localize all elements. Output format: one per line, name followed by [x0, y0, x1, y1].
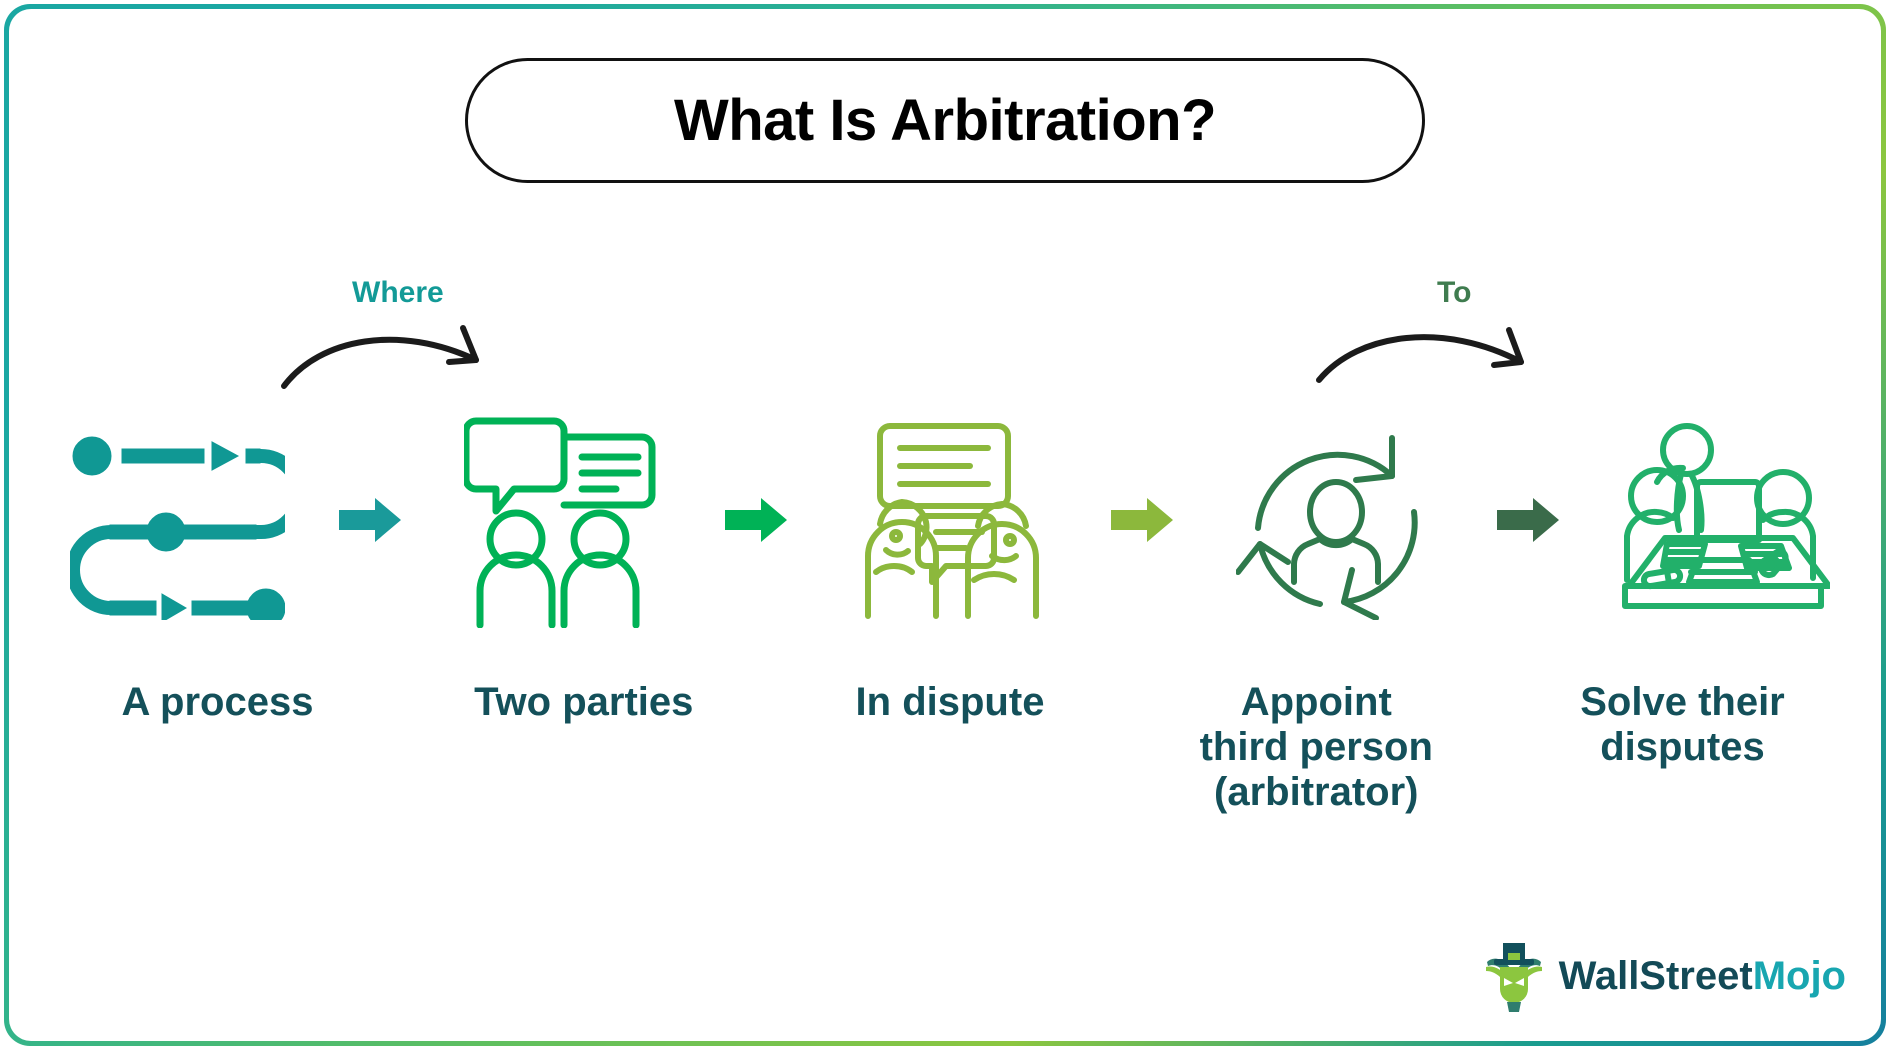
- label-slot-a-process: A process: [70, 680, 365, 725]
- arrow-right-icon: [725, 496, 789, 544]
- process-path-icon: [70, 420, 285, 620]
- two-people-speech-bubbles-icon: [464, 413, 664, 628]
- title-pill: What Is Arbitration?: [465, 58, 1425, 183]
- step-in-dispute: [843, 405, 1058, 635]
- step-solve-disputes: [1615, 405, 1830, 635]
- connector-2: [717, 496, 797, 544]
- label-slot-two-parties: Two parties: [436, 680, 731, 725]
- label-slot-in-dispute: In dispute: [803, 680, 1098, 725]
- step-label-in-dispute: In dispute: [803, 680, 1098, 725]
- step-label-appoint-arbitrator: Appoint third person (arbitrator): [1169, 680, 1464, 814]
- step-a-process: [70, 405, 285, 635]
- arrow-right-icon: [339, 496, 403, 544]
- connector-4: [1489, 496, 1569, 544]
- meeting-table-icon: [1615, 420, 1830, 620]
- annotation-where: Where: [352, 278, 444, 308]
- arrow-right-icon: [1497, 496, 1561, 544]
- step-two-parties: [456, 405, 671, 635]
- bull-tophat-icon: [1483, 940, 1545, 1012]
- connector-1: [331, 496, 411, 544]
- label-slot-solve-disputes: Solve their disputes: [1535, 680, 1830, 770]
- brand-first: WallStreet: [1559, 954, 1753, 998]
- brand-logo[interactable]: WallStreetMojo: [1483, 940, 1846, 1012]
- page-title: What Is Arbitration?: [674, 92, 1216, 150]
- person-cycle-arrows-icon: [1236, 420, 1436, 620]
- step-label-two-parties: Two parties: [436, 680, 731, 725]
- step-appoint-arbitrator: [1229, 405, 1444, 635]
- brand-wordmark: WallStreetMojo: [1559, 956, 1846, 996]
- arrow-right-icon: [1111, 496, 1175, 544]
- step-label-solve-disputes: Solve their disputes: [1535, 680, 1830, 770]
- infographic-canvas: What Is Arbitration? Where To: [0, 0, 1890, 1050]
- labels-row: A process Two parties In dispute Appoint…: [70, 680, 1830, 814]
- annotation-to: To: [1437, 278, 1471, 308]
- connector-3: [1103, 496, 1183, 544]
- step-label-a-process: A process: [70, 680, 365, 725]
- flow-row: [70, 390, 1830, 650]
- two-people-arguing-icon: [850, 420, 1050, 620]
- label-slot-appoint-arbitrator: Appoint third person (arbitrator): [1169, 680, 1464, 814]
- brand-second: Mojo: [1753, 954, 1846, 998]
